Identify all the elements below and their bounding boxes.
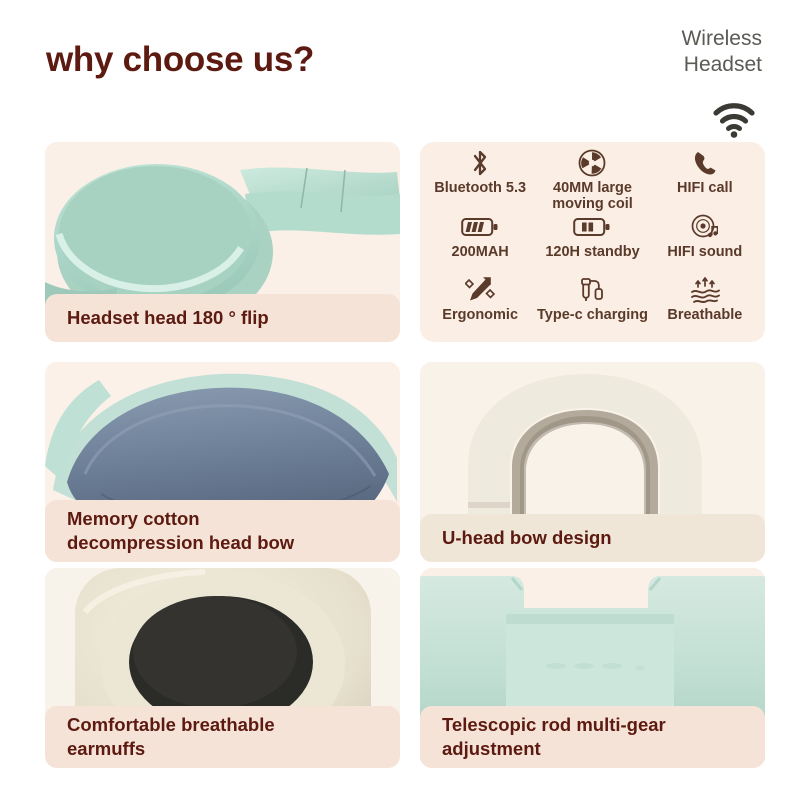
spec-breathable: Breathable — [649, 275, 761, 338]
spec-standby: 120H standby — [536, 212, 648, 275]
card-breathable-earmuff: Comfortable breathable earmuffs — [45, 568, 400, 768]
card-telescopic-rod: Telescopic rod multi-gear adjustment — [420, 568, 765, 768]
spec-ergonomic: Ergonomic — [424, 275, 536, 338]
spec-panel: Bluetooth 5.3 40MM large moving coil — [420, 142, 765, 342]
driver-coil-icon — [577, 148, 607, 178]
spec-label: Breathable — [667, 307, 742, 323]
spec-label: Bluetooth 5.3 — [434, 180, 526, 196]
caption-memory-cotton: Memory cotton decompression head bow — [45, 500, 400, 562]
spec-typec-charging: Type-c charging — [536, 275, 648, 338]
card-headset-flip: Headset head 180 ° flip — [45, 142, 400, 342]
spec-driver-coil: 40MM large moving coil — [536, 148, 648, 212]
wifi-dot — [731, 131, 738, 138]
pencil-ruler-icon — [465, 275, 495, 305]
card-memory-cotton: Memory cotton decompression head bow — [45, 362, 400, 562]
brand-line-1: Wireless — [632, 26, 762, 52]
brand-label: Wireless Headset — [632, 26, 762, 77]
caption-text: Telescopic rod multi-gear adjustment — [420, 713, 666, 760]
spec-label: HIFI call — [677, 180, 733, 196]
bluetooth-icon — [469, 148, 491, 178]
battery-half-icon — [573, 212, 611, 242]
page-title: why choose us? — [46, 40, 314, 80]
vinyl-music-icon — [690, 212, 720, 242]
usb-cable-icon — [577, 275, 607, 305]
spec-label: HIFI sound — [667, 244, 742, 260]
spec-label: Ergonomic — [442, 307, 518, 323]
battery-full-icon — [461, 212, 499, 242]
caption-text: Comfortable breathable earmuffs — [45, 713, 275, 760]
caption-text: U-head bow design — [420, 526, 612, 550]
caption-breathable-earmuff: Comfortable breathable earmuffs — [45, 706, 400, 768]
caption-text: Memory cotton decompression head bow — [45, 507, 294, 554]
spec-hifi-sound: HIFI sound — [649, 212, 761, 275]
spec-hifi-call: HIFI call — [649, 148, 761, 212]
breathable-waves-icon — [688, 275, 722, 305]
spec-label: 40MM large moving coil — [552, 180, 633, 212]
spec-label: 120H standby — [545, 244, 639, 260]
brand-line-2: Headset — [632, 52, 762, 78]
spec-bluetooth: Bluetooth 5.3 — [424, 148, 536, 212]
card-u-head-bow: U-head bow design — [420, 362, 765, 562]
caption-telescopic-rod: Telescopic rod multi-gear adjustment — [420, 706, 765, 768]
caption-u-head-bow: U-head bow design — [420, 514, 765, 562]
infographic-page: why choose us? Wireless Headset — [0, 0, 800, 800]
caption-text: Headset head 180 ° flip — [45, 306, 269, 330]
spec-label: 200MAH — [452, 244, 509, 260]
spec-battery-capacity: 200MAH — [424, 212, 536, 275]
spec-label: Type-c charging — [537, 307, 648, 323]
phone-call-icon — [692, 148, 718, 178]
wifi-icon — [710, 100, 758, 140]
caption-headset-flip: Headset head 180 ° flip — [45, 294, 400, 342]
